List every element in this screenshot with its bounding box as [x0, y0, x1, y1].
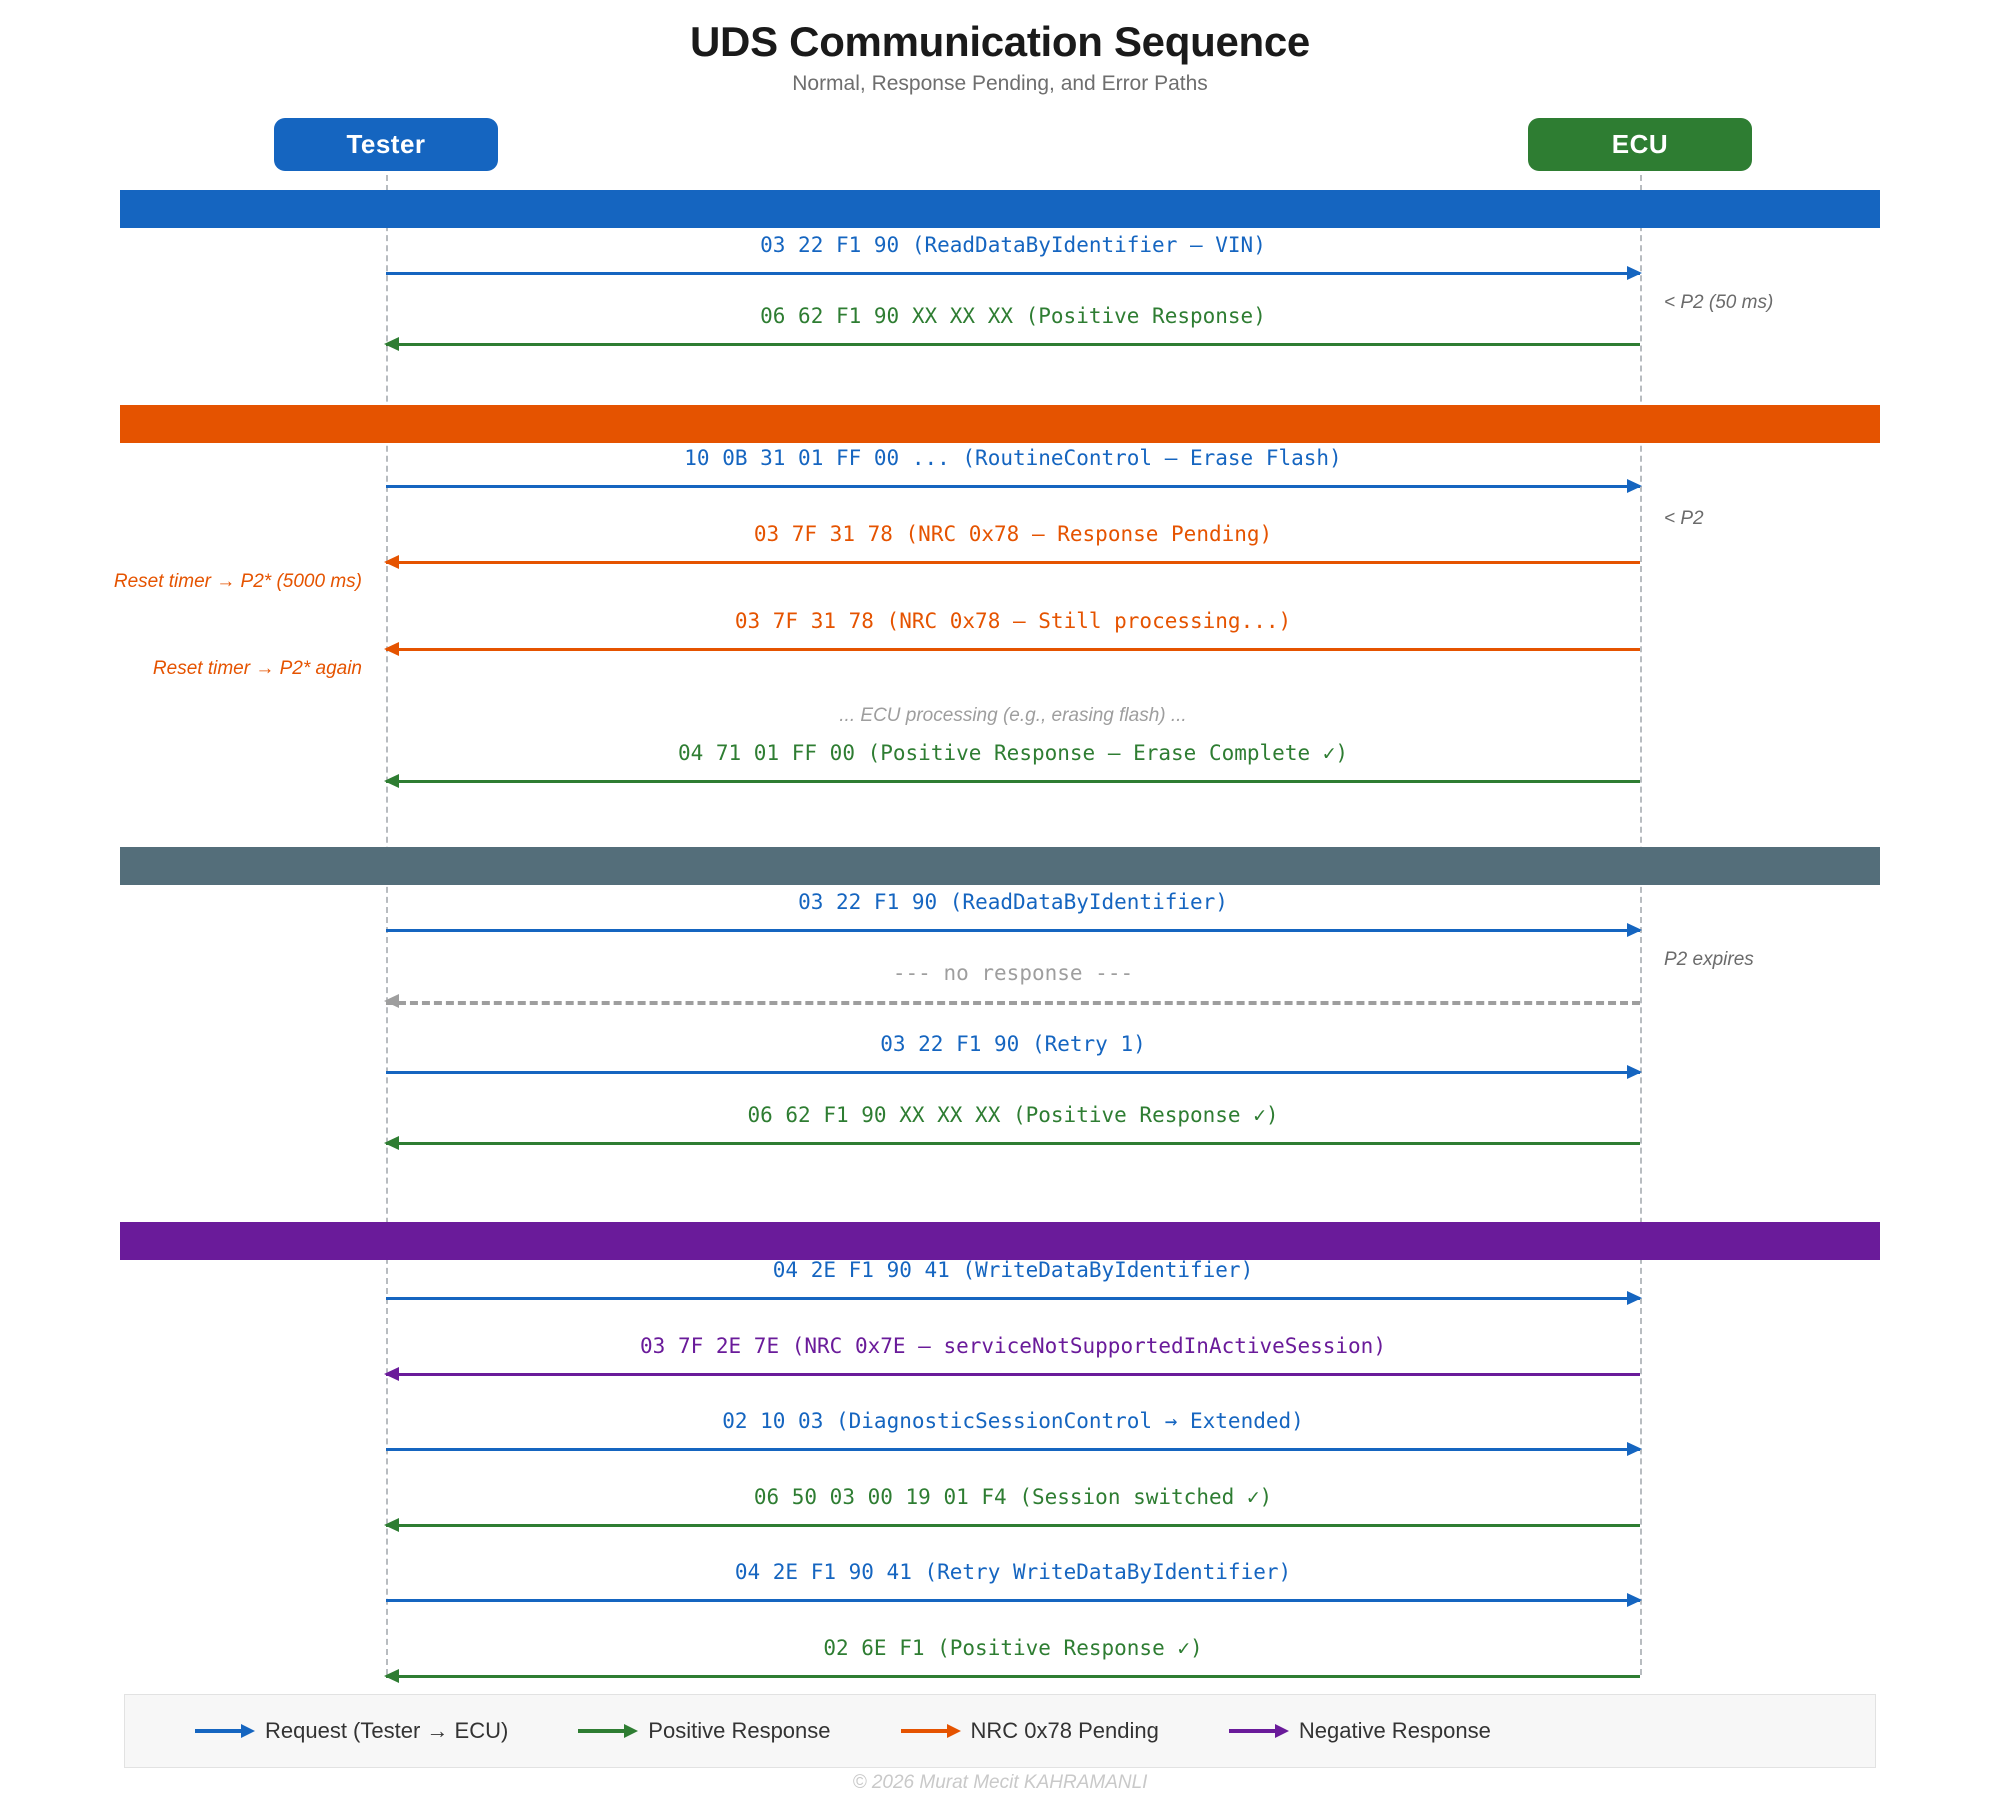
annotation-n5: ... ECU processing (e.g., erasing flash)…	[386, 704, 1640, 728]
arrow-shaft	[386, 1524, 1640, 1527]
arrow-head-icon	[1627, 266, 1642, 280]
legend-request: Request (Tester → ECU)	[195, 1718, 508, 1744]
arrow-shaft	[386, 929, 1640, 932]
annotation-n1: < P2 (50 ms)	[1664, 291, 1773, 315]
legend-label: NRC 0x78 Pending	[971, 1718, 1159, 1744]
message-label-m4: 03 7F 31 78 (NRC 0x78 – Response Pending…	[386, 521, 1640, 547]
message-arrow-m16	[386, 1669, 1640, 1683]
arrow-shaft	[386, 1297, 1640, 1300]
annotation-n4: Reset timer → P2* again	[153, 657, 362, 681]
message-label-m13: 02 10 03 (DiagnosticSessionControl → Ext…	[386, 1408, 1640, 1434]
legend-arrow-icon	[578, 1724, 638, 1738]
arrow-head-icon	[1627, 1065, 1642, 1079]
message-label-m5: 03 7F 31 78 (NRC 0x78 – Still processing…	[386, 608, 1640, 634]
message-arrow-m6	[386, 774, 1640, 788]
message-arrow-m14	[386, 1518, 1640, 1532]
message-arrow-m10	[386, 1136, 1640, 1150]
phase-bar-response-pending-flow	[120, 405, 1880, 443]
legend-positive: Positive Response	[578, 1718, 830, 1744]
legend-pending: NRC 0x78 Pending	[901, 1718, 1159, 1744]
arrow-head-icon	[1627, 1291, 1642, 1305]
message-label-m12: 03 7F 2E 7E (NRC 0x7E – serviceNotSuppor…	[386, 1333, 1640, 1359]
message-label-m14: 06 50 03 00 19 01 F4 (Session switched ✓…	[386, 1484, 1640, 1510]
page-subtitle: Normal, Response Pending, and Error Path…	[0, 72, 2000, 96]
message-label-m1: 03 22 F1 90 (ReadDataByIdentifier – VIN)	[386, 232, 1640, 258]
message-arrow-m9	[386, 1065, 1640, 1079]
arrow-shaft	[386, 1373, 1640, 1376]
legend-label: Negative Response	[1299, 1718, 1491, 1744]
arrow-shaft	[386, 1071, 1640, 1074]
sequence-diagram-canvas: UDS Communication Sequence Normal, Respo…	[0, 0, 2000, 1800]
legend-arrow-head-icon	[1275, 1724, 1289, 1738]
arrow-shaft	[386, 561, 1640, 564]
arrow-head-icon	[384, 642, 399, 656]
legend-arrow-icon	[1229, 1724, 1289, 1738]
legend: Request (Tester → ECU)Positive ResponseN…	[124, 1694, 1876, 1768]
arrow-shaft	[386, 780, 1640, 783]
message-label-m7: 03 22 F1 90 (ReadDataByIdentifier)	[386, 889, 1640, 915]
actor-tester[interactable]: Tester	[274, 118, 498, 171]
arrow-head-icon	[384, 1518, 399, 1532]
arrow-head-icon	[1627, 1593, 1642, 1607]
arrow-shaft	[386, 1001, 1640, 1005]
annotation-n3: Reset timer → P2* (5000 ms)	[114, 570, 362, 594]
arrow-shaft	[386, 343, 1640, 346]
legend-label: Request (Tester → ECU)	[265, 1718, 508, 1744]
arrow-shaft	[386, 272, 1640, 275]
message-label-m15: 04 2E F1 90 41 (Retry WriteDataByIdentif…	[386, 1559, 1640, 1585]
message-arrow-m8	[386, 994, 1640, 1008]
legend-arrow-head-icon	[947, 1724, 961, 1738]
message-arrow-m1	[386, 266, 1640, 280]
arrow-head-icon	[384, 1367, 399, 1381]
annotation-n6: P2 expires	[1664, 948, 1754, 972]
arrow-shaft	[386, 1142, 1640, 1145]
annotation-n2: < P2	[1664, 507, 1704, 531]
legend-arrow-shaft	[901, 1729, 948, 1733]
message-arrow-m2	[386, 337, 1640, 351]
message-label-m16: 02 6E F1 (Positive Response ✓)	[386, 1635, 1640, 1661]
arrow-head-icon	[384, 994, 399, 1008]
arrow-head-icon	[384, 337, 399, 351]
legend-arrow-head-icon	[241, 1724, 255, 1738]
arrow-head-icon	[1627, 923, 1642, 937]
arrow-head-icon	[384, 1136, 399, 1150]
message-label-m2: 06 62 F1 90 XX XX XX (Positive Response)	[386, 303, 1640, 329]
message-label-m11: 04 2E F1 90 41 (WriteDataByIdentifier)	[386, 1257, 1640, 1283]
legend-arrow-shaft	[195, 1729, 242, 1733]
arrow-shaft	[386, 1599, 1640, 1602]
message-label-m10: 06 62 F1 90 XX XX XX (Positive Response …	[386, 1102, 1640, 1128]
message-label-m3: 10 0B 31 01 FF 00 ... (RoutineControl – …	[386, 445, 1640, 471]
legend-arrow-shaft	[578, 1729, 625, 1733]
legend-label: Positive Response	[648, 1718, 830, 1744]
message-arrow-m7	[386, 923, 1640, 937]
page-title: UDS Communication Sequence	[0, 18, 2000, 66]
message-arrow-m5	[386, 642, 1640, 656]
legend-negative: Negative Response	[1229, 1718, 1491, 1744]
actor-ecu-label: ECU	[1612, 129, 1668, 160]
arrow-shaft	[386, 648, 1640, 651]
arrow-head-icon	[384, 774, 399, 788]
phase-bar-negative-response-flow	[120, 1222, 1880, 1260]
arrow-head-icon	[384, 1669, 399, 1683]
message-arrow-m4	[386, 555, 1640, 569]
arrow-head-icon	[1627, 1442, 1642, 1456]
message-arrow-m13	[386, 1442, 1640, 1456]
message-arrow-m12	[386, 1367, 1640, 1381]
message-label-m9: 03 22 F1 90 (Retry 1)	[386, 1031, 1640, 1057]
arrow-shaft	[386, 1448, 1640, 1451]
legend-arrow-head-icon	[624, 1724, 638, 1738]
arrow-head-icon	[1627, 479, 1642, 493]
arrow-shaft	[386, 1675, 1640, 1678]
message-arrow-m15	[386, 1593, 1640, 1607]
message-arrow-m11	[386, 1291, 1640, 1305]
message-label-m8: --- no response ---	[386, 960, 1640, 986]
footer-credit: © 2026 Murat Mecit KAHRAMANLI	[0, 1772, 2000, 1794]
message-label-m6: 04 71 01 FF 00 (Positive Response – Eras…	[386, 740, 1640, 766]
arrow-shaft	[386, 485, 1640, 488]
actor-tester-label: Tester	[346, 129, 425, 160]
arrow-head-icon	[384, 555, 399, 569]
legend-arrow-icon	[901, 1724, 961, 1738]
message-arrow-m3	[386, 479, 1640, 493]
legend-arrow-icon	[195, 1724, 255, 1738]
phase-bar-normal-flow	[120, 190, 1880, 228]
actor-ecu[interactable]: ECU	[1528, 118, 1752, 171]
legend-arrow-shaft	[1229, 1729, 1276, 1733]
phase-bar-timeout-retry-flow	[120, 847, 1880, 885]
